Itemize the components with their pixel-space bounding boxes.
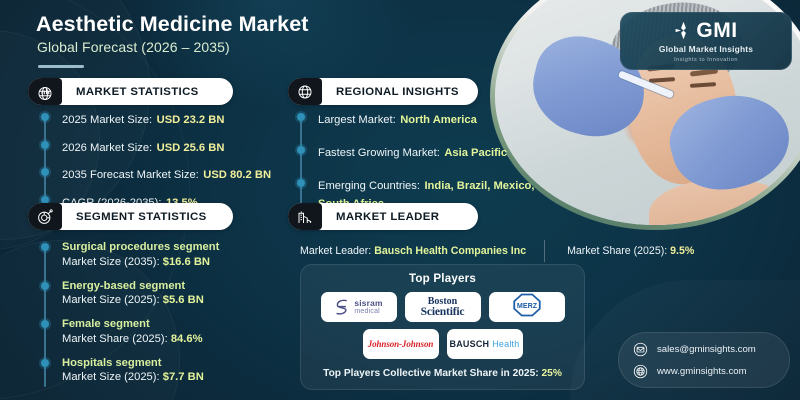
page-title: Aesthetic Medicine Market: [36, 12, 309, 37]
stat-value: USD 25.6 BN: [157, 142, 225, 154]
segment-metric-label: Market Share (2025):: [62, 333, 168, 345]
section-label: MARKET STATISTICS: [76, 86, 199, 98]
boston-line2: Scientific: [421, 306, 465, 317]
list-item: 2026 Market Size: USD 25.6 BN: [44, 138, 294, 156]
stat-label: 2035 Forecast Market Size:: [62, 169, 199, 181]
market-share-info: Market Share (2025): 9.5%: [567, 245, 694, 257]
collective-share-value: 25%: [542, 368, 562, 379]
logo-tile-merz: MERZ: [489, 292, 565, 322]
merz-octagon-icon: MERZ: [512, 293, 542, 317]
svg-text:MERZ: MERZ: [516, 302, 537, 310]
list-item: Female segment Market Share (2025): 84.6…: [44, 317, 299, 347]
list-item: Energy-based segment Market Size (2025):…: [44, 279, 299, 309]
envelope-icon: [633, 342, 648, 357]
section-icon-badge: [288, 203, 322, 230]
segment-metric-row: Market Size (2025): $7.7 BN: [62, 370, 299, 385]
section-header-regional-insights: REGIONAL INSIGHTS: [288, 78, 478, 105]
factory-building-icon: [296, 208, 314, 226]
contact-email: sales@gminsights.com: [657, 344, 756, 355]
gmi-logo-top: GMI: [674, 20, 737, 41]
title-divider: [38, 65, 84, 68]
segment-metric-label: Market Size (2025):: [62, 294, 160, 306]
section-icon-badge: [28, 78, 62, 105]
bullet-dot: [297, 146, 305, 154]
bullet-dot: [41, 320, 49, 328]
bullet-dot: [41, 141, 49, 149]
sisram-line1: sisram: [354, 299, 382, 307]
bullet-dot: [41, 359, 49, 367]
top-players-title: Top Players: [301, 272, 584, 285]
section-label: SEGMENT STATISTICS: [76, 211, 207, 223]
segment-heading: Energy-based segment: [62, 279, 299, 294]
market-share-value: 9.5%: [670, 245, 694, 257]
section-header-market-statistics: MARKET STATISTICS: [28, 78, 233, 105]
list-item: Hospitals segment Market Size (2025): $7…: [44, 356, 299, 386]
contact-panel: sales@gminsights.com www.gminsights.com: [618, 332, 790, 388]
segment-metric-value: 84.6%: [171, 333, 203, 345]
stat-label: 2025 Market Size:: [62, 114, 152, 126]
collective-share-row: Top Players Collective Market Share in 2…: [301, 368, 584, 379]
section-header-segment-statistics: SEGMENT STATISTICS: [28, 203, 233, 230]
market-leader-label: Market Leader:: [300, 245, 371, 257]
infographic-canvas: GMI Global Market Insights Insights to I…: [0, 0, 800, 400]
globe-icon: [296, 83, 314, 101]
list-item: Fastest Growing Market: Asia Pacific: [300, 143, 565, 161]
segment-metric-value: $5.6 BN: [163, 294, 204, 306]
section-icon-badge: [288, 78, 322, 105]
market-leader-row: Market Leader: Bausch Health Companies I…: [300, 240, 780, 262]
gmi-full-name: Global Market Insights: [659, 44, 753, 54]
logo-tile-sisram: sisram medical: [321, 292, 397, 322]
segment-heading: Female segment: [62, 317, 299, 332]
sisram-logo: sisram medical: [334, 298, 382, 317]
segment-metric-value: $16.6 BN: [163, 256, 210, 268]
market-share-label: Market Share (2025):: [567, 245, 667, 257]
region-label: Largest Market:: [318, 114, 396, 126]
bullet-dot: [41, 168, 49, 176]
market-leader-value: Bausch Health Companies Inc: [374, 245, 526, 257]
market-leader-info: Market Leader: Bausch Health Companies I…: [300, 245, 526, 257]
collective-share-label: Top Players Collective Market Share in 2…: [323, 368, 539, 379]
section-label: REGIONAL INSIGHTS: [336, 86, 459, 98]
bausch-health-logo: BAUSCH Health: [450, 339, 520, 349]
sisram-line2: medical: [354, 308, 382, 315]
logo-tile-boston-scientific: Boston Scientific: [405, 292, 481, 322]
segment-heading: Hospitals segment: [62, 356, 299, 371]
segment-metric-label: Market Size (2025):: [62, 371, 160, 383]
contact-email-row[interactable]: sales@gminsights.com: [633, 342, 789, 357]
merz-logo: MERZ: [512, 293, 542, 322]
bullet-dot: [297, 179, 305, 187]
segment-metric-value: $7.7 BN: [163, 371, 204, 383]
section-label: MARKET LEADER: [336, 211, 439, 223]
logo-row-2: Johnson-Johnson BAUSCH Health: [301, 329, 584, 359]
logo-tile-johnson-and-johnson: Johnson-Johnson: [363, 329, 439, 359]
johnson-and-johnson-logo: Johnson-Johnson: [368, 339, 434, 349]
bullet-dot: [41, 243, 49, 251]
bullet-dot: [297, 113, 305, 121]
segment-metric-row: Market Share (2025): 84.6%: [62, 332, 299, 347]
stat-label: 2026 Market Size:: [62, 142, 152, 154]
contact-website: www.gminsights.com: [657, 366, 747, 377]
top-players-card: Top Players sisram medical Boston: [300, 264, 585, 390]
globe-chart-icon: [36, 83, 54, 101]
region-value: Asia Pacific: [444, 147, 507, 159]
sisram-mark-icon: [334, 298, 351, 317]
page-subtitle: Global Forecast (2026 – 2035): [37, 39, 230, 55]
segment-metric-row: Market Size (2025): $5.6 BN: [62, 293, 299, 308]
bausch-line2: Health: [492, 339, 519, 349]
region-label: Fastest Growing Market:: [318, 147, 440, 159]
bausch-line1: BAUSCH: [450, 339, 490, 349]
logo-row-1: sisram medical Boston Scientific MERZ: [301, 292, 584, 322]
globe-icon: [633, 364, 648, 379]
stat-value: USD 23.2 BN: [157, 114, 225, 126]
list-item: 2025 Market Size: USD 23.2 BN: [44, 110, 294, 128]
bullet-dot: [41, 113, 49, 121]
region-label: Emerging Countries:: [318, 180, 420, 192]
list-item: 2035 Forecast Market Size: USD 80.2 BN: [44, 165, 294, 183]
vertical-divider: [544, 240, 545, 262]
gmi-logo-badge: GMI Global Market Insights Insights to I…: [620, 12, 792, 70]
gmi-diamond-icon: [674, 21, 693, 40]
sisram-wordmark: sisram medical: [354, 299, 382, 315]
segment-statistics-list: Surgical procedures segment Market Size …: [44, 240, 299, 394]
list-item: Surgical procedures segment Market Size …: [44, 240, 299, 270]
contact-website-row[interactable]: www.gminsights.com: [633, 364, 789, 379]
bullet-dot: [41, 282, 49, 290]
list-item: Largest Market: North America: [300, 110, 565, 128]
section-header-market-leader: MARKET LEADER: [288, 203, 478, 230]
segment-heading: Surgical procedures segment: [62, 240, 299, 255]
gmi-name: GMI: [696, 20, 737, 41]
gmi-tagline: Insights to Innovation: [674, 57, 738, 63]
section-icon-badge: [28, 203, 62, 230]
logo-tile-bausch-health: BAUSCH Health: [447, 329, 523, 359]
segment-metric-label: Market Size (2035):: [62, 256, 160, 268]
segment-metric-row: Market Size (2035): $16.6 BN: [62, 255, 299, 270]
stat-value: USD 80.2 BN: [203, 169, 271, 181]
pie-chart-icon: [36, 208, 54, 226]
boston-scientific-logo: Boston Scientific: [421, 297, 465, 318]
region-value: North America: [400, 114, 477, 126]
